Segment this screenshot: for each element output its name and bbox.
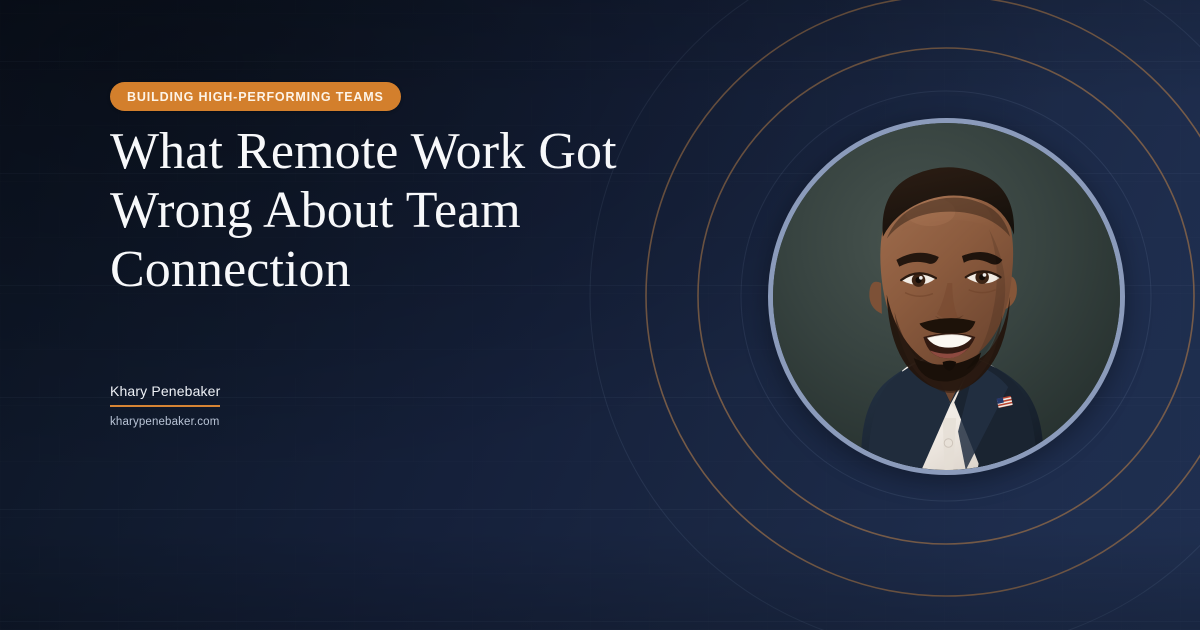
social-share-card: BUILDING HIGH-PERFORMING TEAMS What Remo… [0,0,1200,630]
page-title: What Remote Work Got Wrong About Team Co… [110,122,670,299]
author-name: Khary Penebaker [110,383,220,407]
card-content: BUILDING HIGH-PERFORMING TEAMS What Remo… [110,0,730,630]
portrait-illustration [773,123,1120,470]
byline: Khary Penebaker kharypenebaker.com [110,383,220,428]
author-portrait [768,118,1125,475]
category-badge: BUILDING HIGH-PERFORMING TEAMS [110,82,401,111]
author-website: kharypenebaker.com [110,416,220,428]
